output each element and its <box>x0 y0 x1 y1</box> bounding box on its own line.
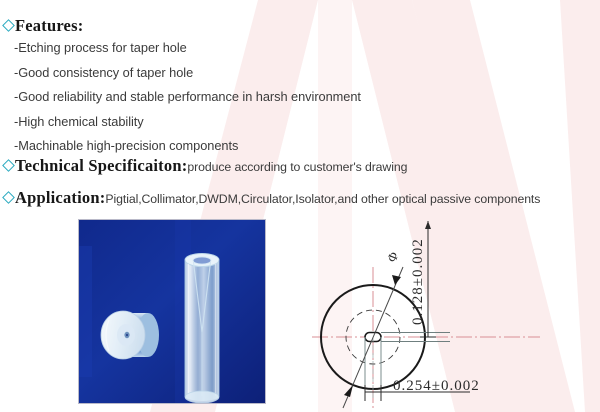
ferrule-product-photo <box>78 219 266 404</box>
list-item: -Good reliability and stable performance… <box>14 89 361 104</box>
list-item: -Etching process for taper hole <box>14 40 361 55</box>
list-item: -High chemical stability <box>14 114 361 129</box>
product-spec-page: Features: -Etching process for taper hol… <box>0 0 600 412</box>
features-list: -Etching process for taper hole -Good co… <box>14 40 361 163</box>
application-text: Pigtial,Collimator,DWDM,Circulator,Isola… <box>105 192 540 206</box>
diameter-symbol: Φ <box>384 249 402 264</box>
diamond-icon <box>2 19 15 32</box>
diamond-icon <box>2 159 15 172</box>
diamond-icon <box>2 191 15 204</box>
application-heading-label: Application: <box>15 188 105 208</box>
ferrule-cross-section-drawing: Φ 0.128±0.002 0.254±0.002 <box>300 215 600 412</box>
application-heading: Application: Pigtial,Collimator,DWDM,Cir… <box>4 188 540 208</box>
specification-text: produce according to customer's drawing <box>187 160 407 174</box>
features-heading-label: Features: <box>15 16 83 36</box>
specification-heading: Technical Specificaiton: produce accordi… <box>4 156 407 176</box>
specification-heading-label: Technical Specificaiton: <box>15 156 187 176</box>
features-heading: Features: <box>4 16 83 36</box>
horizontal-dimension-label: 0.254±0.002 <box>393 378 480 394</box>
vertical-dimension-label: 0.128±0.002 <box>410 238 426 325</box>
list-item: -Machinable high-precision components <box>14 138 361 153</box>
list-item: -Good consistency of taper hole <box>14 65 361 80</box>
